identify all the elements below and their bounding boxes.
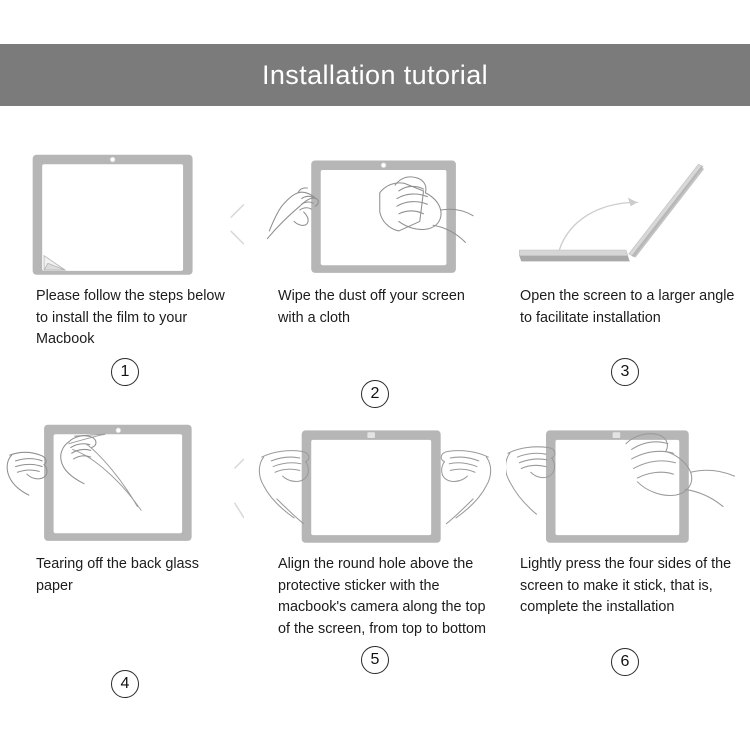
illustration-screen-peeling-corner: [6, 140, 244, 280]
step-caption-5: Align the round hole above the protectiv…: [256, 554, 494, 640]
step-number-badge-1: 1: [111, 358, 139, 386]
illustration-laptop-open-angle: [506, 140, 744, 280]
step-caption-1: Please follow the steps below to install…: [6, 286, 244, 352]
illustration-wipe-screen-with-cloth: [256, 140, 494, 280]
step-number-wrap-6: 6: [506, 648, 744, 676]
step-card-1: Please follow the steps below to install…: [0, 130, 250, 398]
step-card-6: Lightly press the four sides of the scre…: [500, 398, 750, 688]
step-number-wrap-5: 5: [256, 646, 494, 674]
step-caption-6: Lightly press the four sides of the scre…: [506, 554, 744, 620]
step-number-badge-6: 6: [611, 648, 639, 676]
step-caption-4: Tearing off the back glass paper: [6, 554, 244, 620]
step-card-3: Open the screen to a larger angle to fac…: [500, 130, 750, 398]
steps-grid: Please follow the steps below to install…: [0, 130, 750, 688]
step-number-badge-4: 4: [111, 670, 139, 698]
header-bar: Installation tutorial: [0, 44, 750, 106]
step-card-2: Wipe the dust off your screen with a clo…: [250, 130, 500, 398]
step-number-badge-3: 3: [611, 358, 639, 386]
illustration-align-film-two-hands: [256, 408, 494, 548]
step-number-wrap-4: 4: [6, 670, 244, 698]
step-card-4: Tearing off the back glass paper 4: [0, 398, 250, 688]
step-caption-3: Open the screen to a larger angle to fac…: [506, 286, 744, 352]
step-card-5: Align the round hole above the protectiv…: [250, 398, 500, 688]
page-title: Installation tutorial: [262, 60, 488, 91]
step-number-wrap-3: 3: [506, 358, 744, 386]
step-caption-2: Wipe the dust off your screen with a clo…: [256, 286, 494, 352]
step-number-wrap-1: 1: [6, 358, 244, 386]
step-number-badge-5: 5: [361, 646, 389, 674]
illustration-tear-backing-paper: [6, 408, 244, 548]
illustration-press-four-sides: [506, 408, 744, 548]
